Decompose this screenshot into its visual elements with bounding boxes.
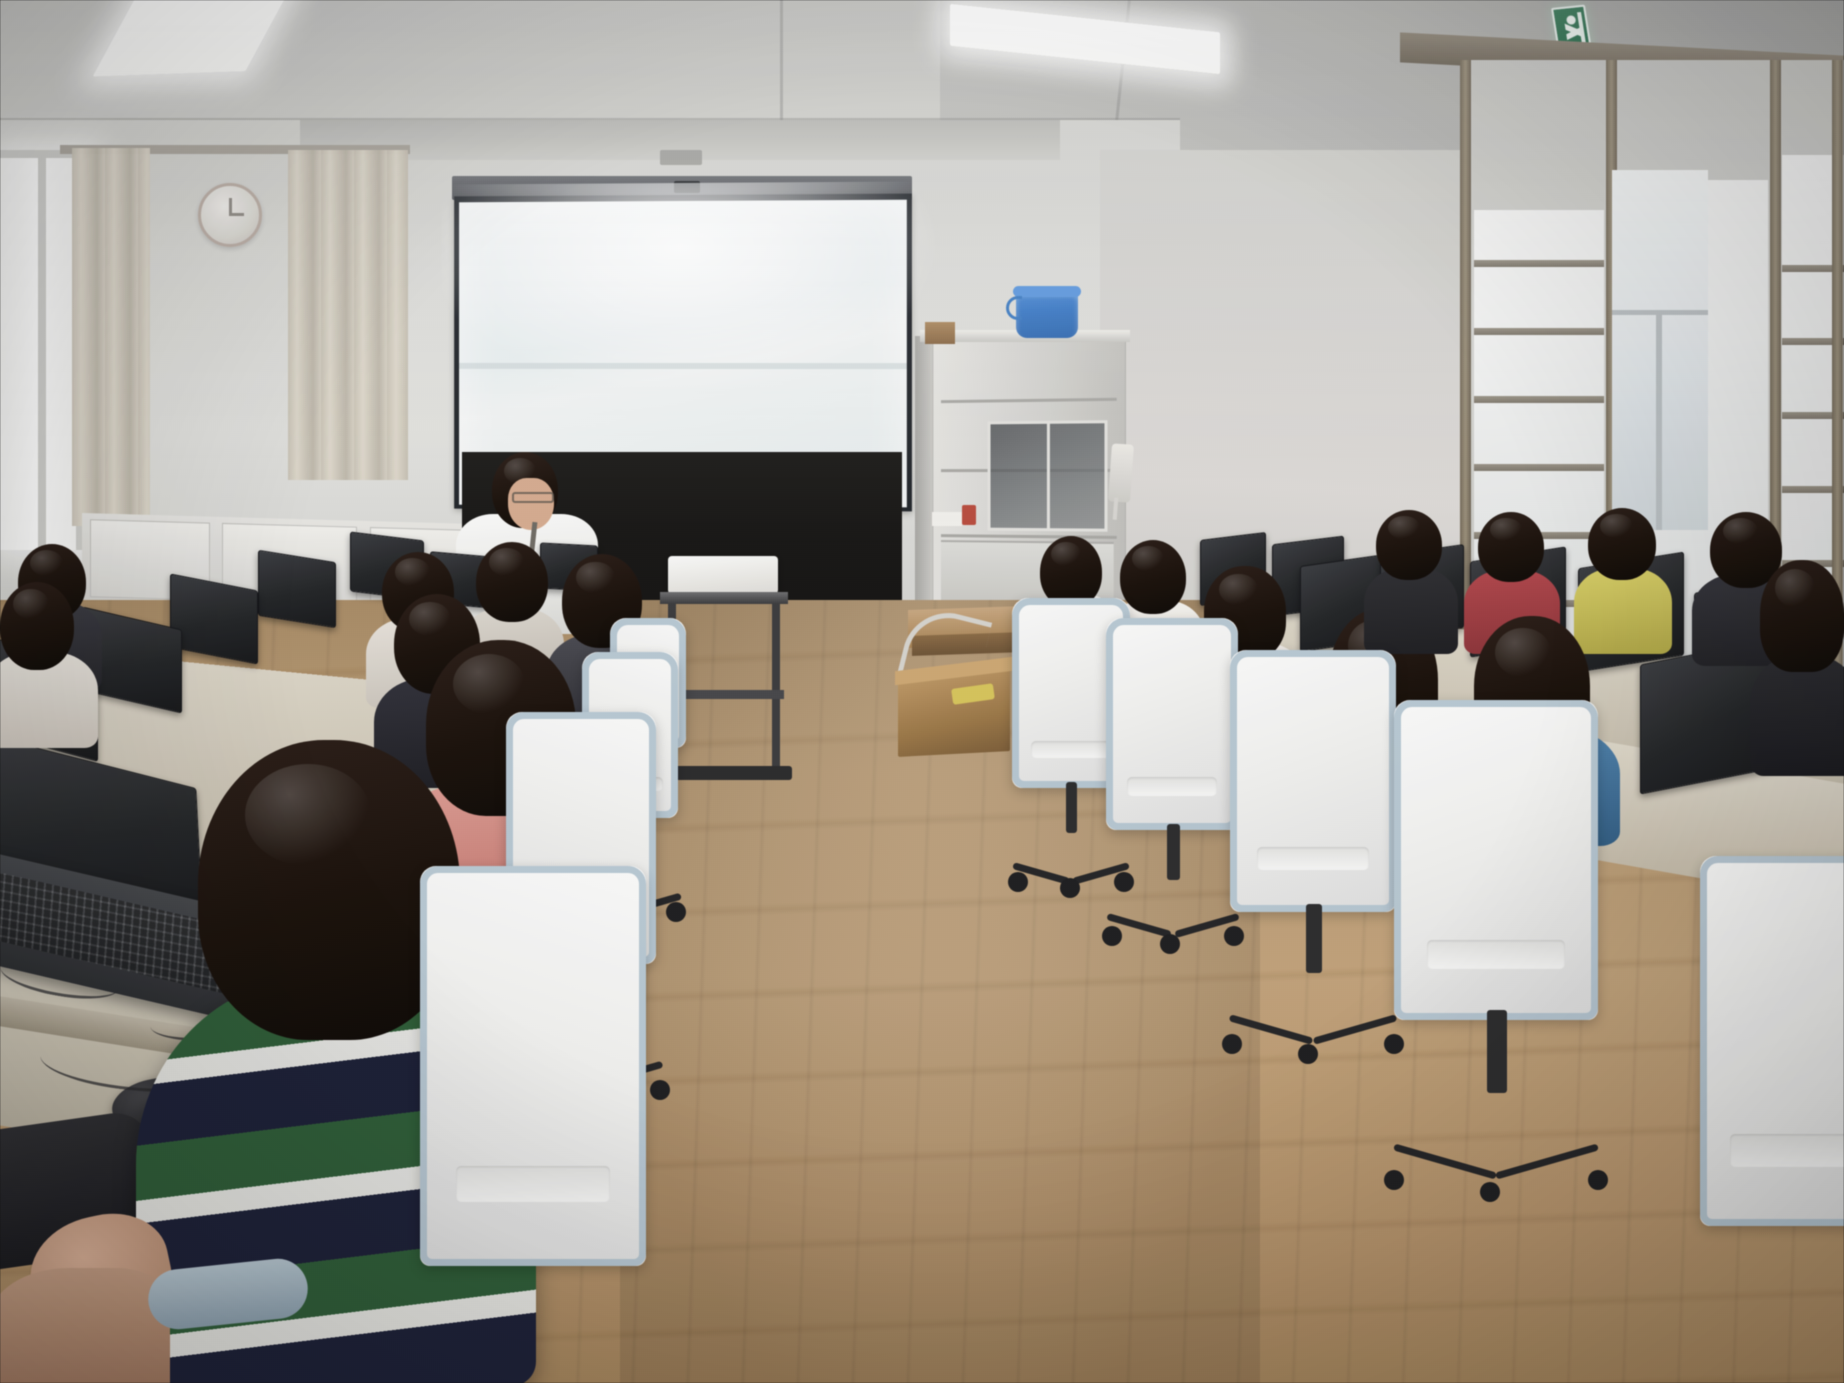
laptop[interactable] (258, 550, 336, 628)
student-left (0, 582, 90, 732)
small-white-item (932, 512, 962, 526)
student-arm (0, 1268, 170, 1383)
blue-bucket (1016, 290, 1078, 338)
chair-base (1222, 904, 1404, 1054)
chair-foreground[interactable] (420, 866, 646, 1266)
ceiling-vent-icon (660, 150, 702, 165)
student-right (1370, 510, 1450, 640)
chair[interactable] (1230, 650, 1396, 912)
chair-base (1384, 1010, 1608, 1190)
cart-top-shelf (660, 592, 788, 604)
wall-phone-icon (1108, 443, 1134, 502)
small-red-item (962, 505, 976, 525)
curtain-left (72, 148, 150, 526)
chair[interactable] (1700, 856, 1844, 1226)
wooden-box (898, 669, 1010, 757)
chair[interactable] (1106, 618, 1238, 830)
exterior-window (1612, 170, 1708, 530)
cardboard-box (925, 322, 955, 344)
student-right-edge (1760, 560, 1844, 760)
cart-leg-right (772, 604, 780, 772)
classroom-photograph (0, 0, 1844, 1383)
eyeglasses-icon (512, 492, 554, 503)
curtain-right (288, 150, 408, 480)
chair[interactable] (1394, 700, 1598, 1020)
wall-clock-icon (198, 183, 262, 247)
ceiling-seam-vertical (780, 0, 783, 120)
printer (668, 556, 778, 594)
